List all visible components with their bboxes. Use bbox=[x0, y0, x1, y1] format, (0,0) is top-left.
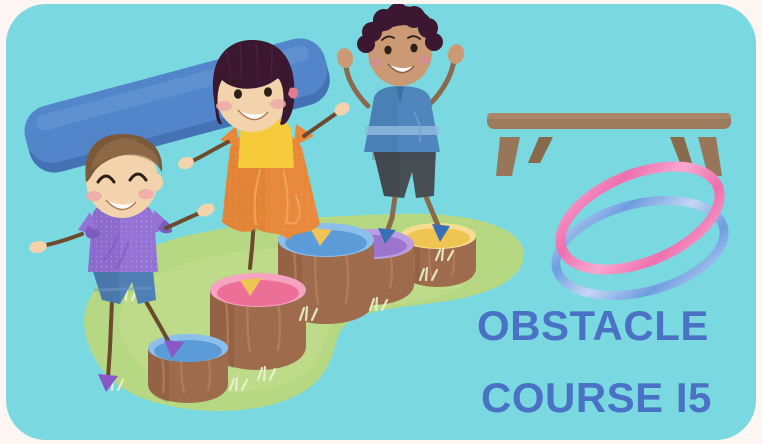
illustration-canvas: OBSTACLE COURSE I5 bbox=[0, 0, 762, 444]
title-line-2: COURSE I5 bbox=[481, 374, 712, 421]
scene-svg: OBSTACLE COURSE I5 bbox=[0, 0, 762, 444]
scene-group: OBSTACLE COURSE I5 bbox=[0, 0, 762, 444]
stump-1 bbox=[148, 334, 228, 403]
title-line-1: OBSTACLE bbox=[477, 302, 709, 349]
